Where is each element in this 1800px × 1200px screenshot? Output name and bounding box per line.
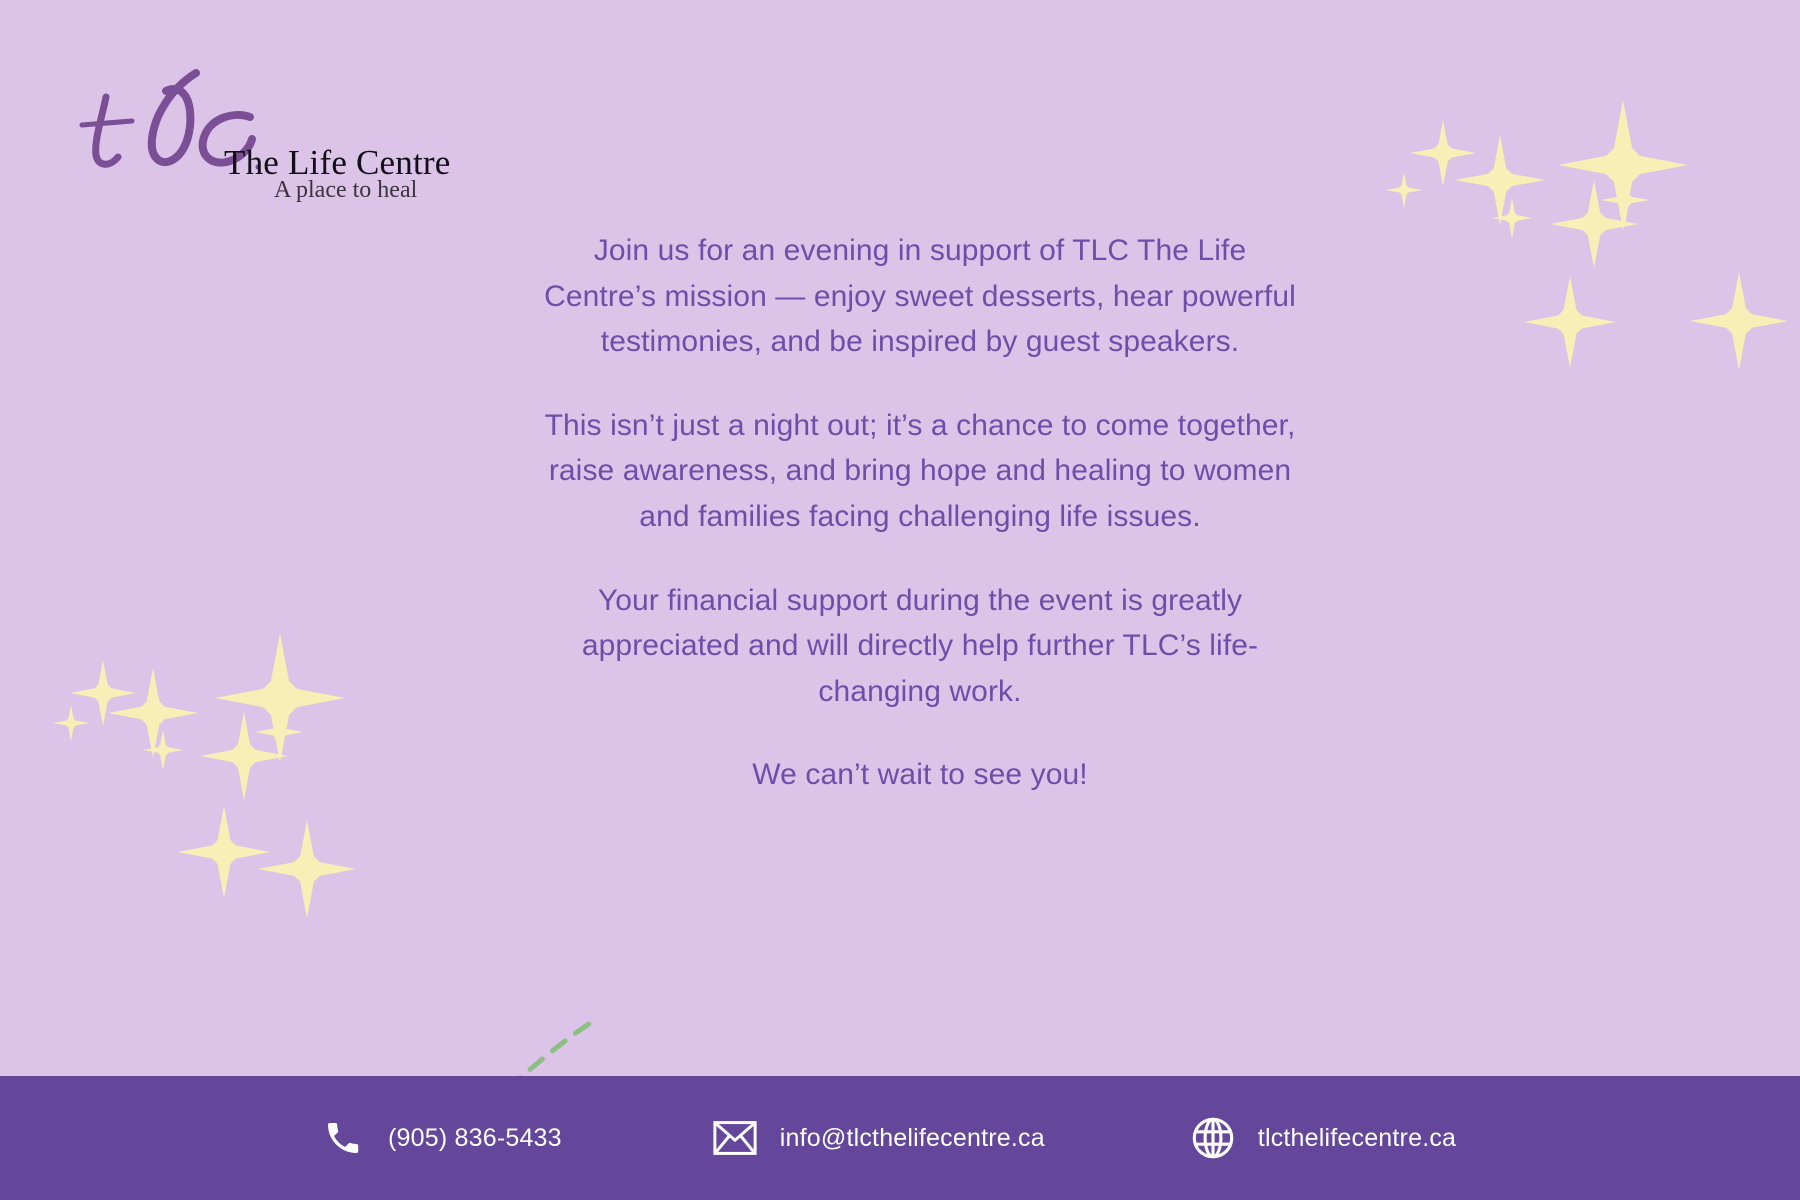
dashed-curve-decoration (500, 990, 700, 1090)
contact-footer: (905) 836-5433 info@tlcthelifecentre.ca (0, 1076, 1800, 1200)
sparkle-icon (178, 806, 270, 898)
event-description: Join us for an evening in support of TLC… (540, 228, 1300, 798)
sparkle-icon (1558, 100, 1688, 230)
website-url: tlcthelifecentre.ca (1258, 1124, 1456, 1153)
sparkle-icon (1690, 272, 1788, 370)
sparkle-icon (1386, 172, 1422, 208)
sparkle-icon (215, 633, 345, 763)
sparkle-icon (53, 705, 89, 741)
paragraph-4: We can’t wait to see you! (540, 752, 1300, 798)
contact-email[interactable]: info@tlcthelifecentre.ca (712, 1115, 1045, 1161)
paragraph-1: Join us for an evening in support of TLC… (540, 228, 1300, 365)
tlc-logo: The Life Centre A place to heal (62, 55, 362, 175)
logo-wordmark: The Life Centre (224, 145, 451, 180)
phone-number: (905) 836-5433 (388, 1124, 562, 1153)
phone-icon (320, 1115, 366, 1161)
sparkle-icon (1410, 120, 1476, 186)
paragraph-2: This isn’t just a night out; it’s a chan… (540, 403, 1300, 540)
logo-tagline: A place to heal (274, 178, 417, 202)
globe-icon (1190, 1115, 1236, 1161)
sparkle-icon (1524, 276, 1616, 368)
envelope-icon (712, 1115, 758, 1161)
sparkle-icon (108, 668, 198, 758)
sparkle-icon (258, 820, 356, 918)
sparkle-icon (1455, 135, 1545, 225)
email-address: info@tlcthelifecentre.ca (780, 1124, 1045, 1153)
contact-phone[interactable]: (905) 836-5433 (320, 1115, 562, 1161)
contact-website[interactable]: tlcthelifecentre.ca (1190, 1115, 1456, 1161)
poster-canvas: The Life Centre A place to heal Join us … (0, 0, 1800, 1200)
paragraph-3: Your financial support during the event … (540, 578, 1300, 715)
